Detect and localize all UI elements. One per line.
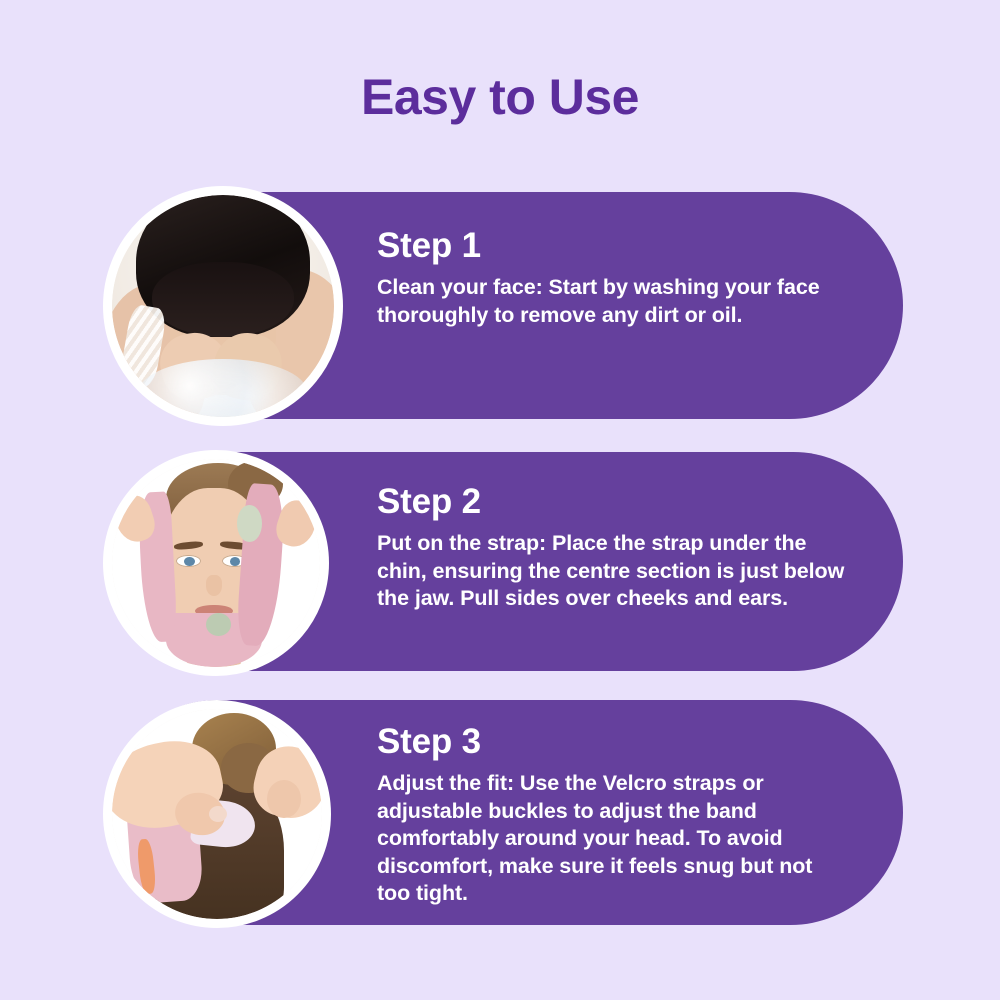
step-1-text-block: Step 1 Clean your face: Start by washing… <box>377 228 847 329</box>
woman-washing-face-photo <box>112 195 334 417</box>
step-3-image <box>103 700 331 928</box>
page-title: Easy to Use <box>0 72 1000 122</box>
easy-to-use-infographic: Easy to Use Step 1 Clean your face: Star… <box>0 0 1000 1000</box>
step-card-1: Step 1 Clean your face: Start by washing… <box>105 192 903 419</box>
hair-lower-shape <box>152 262 294 337</box>
fingers-right-shape <box>267 780 301 818</box>
step-2-text-block: Step 2 Put on the strap: Place the strap… <box>377 484 847 613</box>
step-1-description: Clean your face: Start by washing your f… <box>377 274 847 329</box>
hands-adjusting-velcro-strap-behind-head-photo <box>112 709 322 919</box>
step-3-text-block: Step 3 Adjust the fit: Use the Velcro st… <box>377 724 847 908</box>
step-3-description: Adjust the fit: Use the Velcro straps or… <box>377 770 847 908</box>
woman-wearing-face-lifting-strap-photo <box>112 459 320 667</box>
step-card-2: Step 2 Put on the strap: Place the strap… <box>105 452 903 671</box>
strap-pad-upper-shape <box>237 505 262 542</box>
step-1-heading: Step 1 <box>377 228 847 263</box>
step-1-image <box>103 186 343 426</box>
step-2-image <box>103 450 329 676</box>
iris-left-shape <box>184 557 195 567</box>
water-splash-shape <box>139 359 308 417</box>
step-2-description: Put on the strap: Place the strap under … <box>377 530 847 613</box>
step-2-heading: Step 2 <box>377 484 847 519</box>
step-3-heading: Step 3 <box>377 724 847 759</box>
strap-pad-lower-shape <box>206 613 231 636</box>
step-card-3: Step 3 Adjust the fit: Use the Velcro st… <box>105 700 903 925</box>
